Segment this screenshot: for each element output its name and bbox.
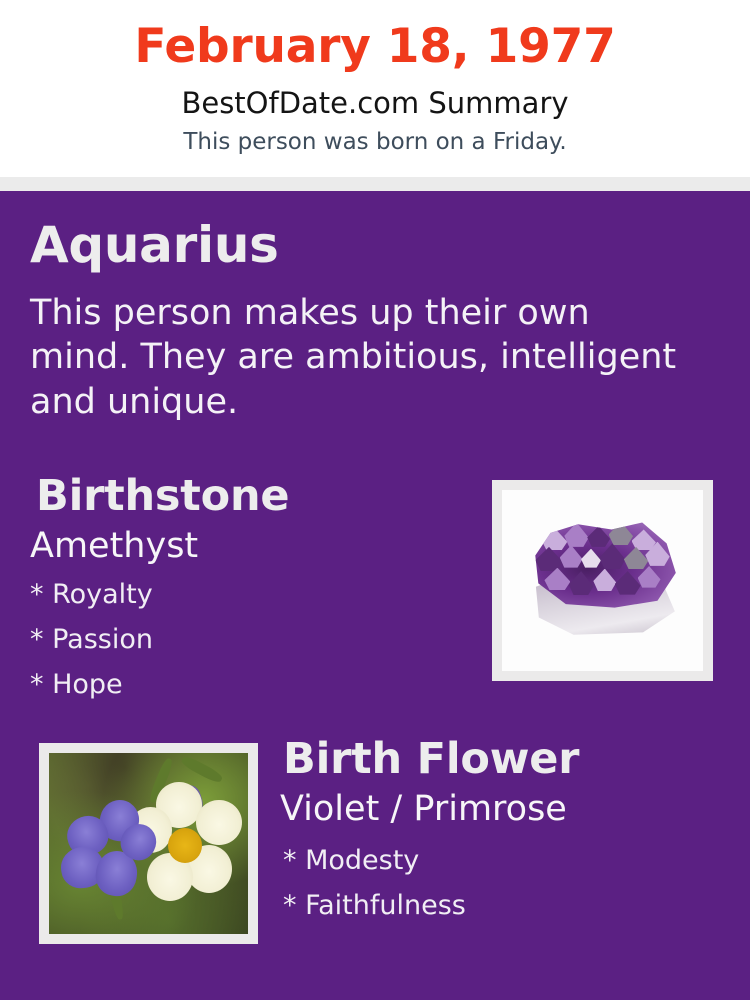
zodiac-sign-title: Aquarius [30, 220, 279, 270]
list-item: * Modesty [283, 847, 723, 874]
birthflower-trait-list: * Modesty * Faithfulness [283, 847, 723, 937]
birthflower-name: Violet / Primrose [280, 792, 567, 827]
birthstone-trait-list: * Royalty * Passion * Hope [30, 581, 450, 716]
violet-flower [61, 800, 164, 901]
card-header: February 18, 1977 BestOfDate.com Summary… [0, 0, 750, 177]
born-day-text: This person was born on a Friday. [0, 130, 750, 155]
header-divider [0, 177, 750, 191]
amethyst-crystal-image [502, 490, 703, 671]
details-panel: Aquarius This person makes up their own … [0, 191, 750, 1000]
violet-primrose-image [49, 753, 248, 934]
list-item: * Royalty [30, 581, 450, 608]
list-item: * Hope [30, 671, 450, 698]
birthflower-title: Birth Flower [283, 738, 579, 781]
birthstone-photo-frame [492, 480, 713, 681]
summary-card: February 18, 1977 BestOfDate.com Summary… [0, 0, 750, 1000]
zodiac-description: This person makes up their own mind. The… [30, 291, 690, 424]
site-summary-label: BestOfDate.com Summary [0, 88, 750, 120]
list-item: * Passion [30, 626, 450, 653]
birthstone-title: Birthstone [36, 475, 289, 518]
page-title: February 18, 1977 [0, 22, 750, 71]
list-item: * Faithfulness [283, 892, 723, 919]
birthstone-name: Amethyst [30, 529, 198, 564]
birthflower-photo-frame [39, 743, 258, 944]
